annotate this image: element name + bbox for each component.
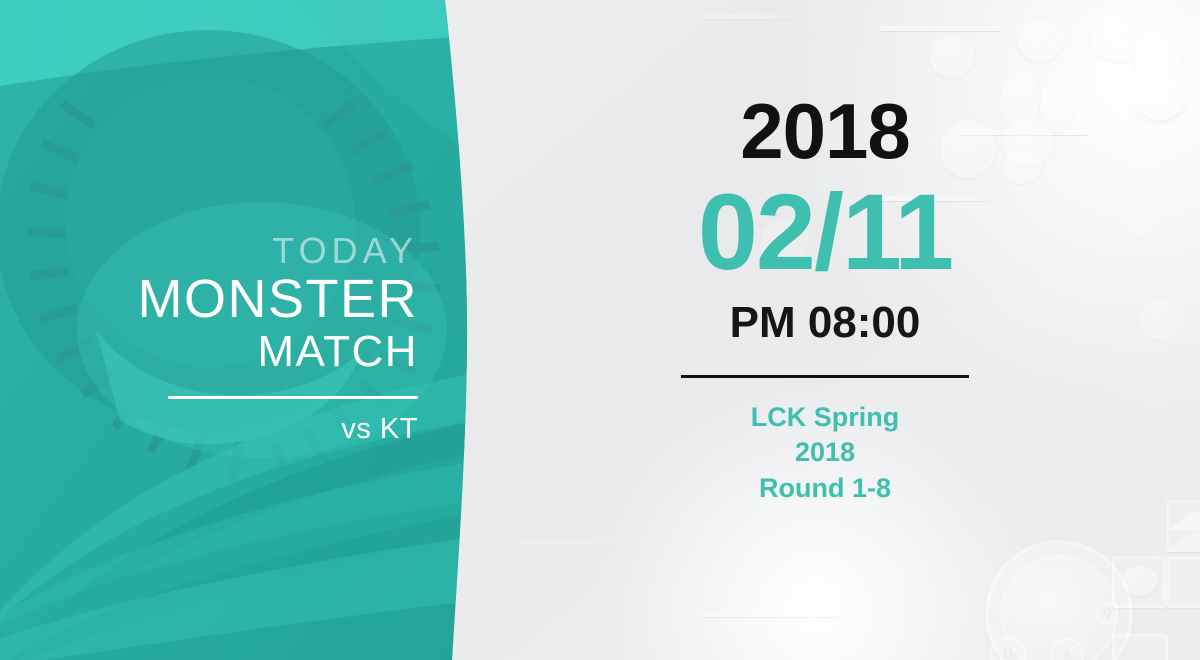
match-time: PM 08:00 [645,301,1005,345]
match-branding-panel: TODAY MONSTER MATCH vs KT [0,0,480,660]
opponent-label: vs KT [138,413,419,446]
watermark-item-slot-icon [1112,634,1168,660]
watermark-ability-icon [1122,566,1158,596]
watermark-bar-icon [700,612,840,617]
watermark-bar-icon [700,14,796,19]
branding-text-block: TODAY MONSTER MATCH vs KT [138,232,419,446]
watermark-champion-portrait-icon [985,540,1133,660]
match-year: 2018 [645,92,1005,170]
watermark-blob-icon [1132,32,1184,78]
schedule-divider [681,375,969,378]
watermark-blob-icon [1120,200,1162,236]
watermark-blob-icon [1126,62,1190,122]
branding-divider [168,396,418,399]
league-round: Round 1-8 [645,471,1005,507]
watermark-item-slot-icon [1166,500,1200,552]
match-date: 02/11 [645,174,1005,291]
watermark-blob-icon [1090,10,1150,62]
watermark-blob-icon [1134,70,1186,120]
watermark-level-badge-icon: 11 [990,636,1026,660]
watermark-blob-icon [930,36,974,78]
watermark-blob-icon [1040,78,1074,132]
match-title: MATCH [138,327,419,378]
league-name: LCK Spring [645,400,1005,436]
league-year: 2018 [645,435,1005,471]
watermark-chevron-up-icon [1168,530,1200,550]
watermark-bar-icon [880,26,1002,31]
today-label: TODAY [138,232,419,270]
league-info-block: LCK Spring 2018 Round 1-8 [645,400,1005,507]
watermark-blob-icon [1140,300,1184,340]
match-schedule-block: 2018 02/11 PM 08:00 LCK Spring 2018 Roun… [645,92,1005,507]
watermark-score-badge-icon: S [1050,638,1084,660]
match-announcement-card: 11 S Q [0,0,1200,660]
watermark-champion-portrait-inner-icon [1000,555,1118,660]
monster-title: MONSTER [138,268,419,331]
watermark-search-icon: Q [1096,602,1118,624]
watermark-bar-icon [520,540,610,545]
watermark-blob-icon [1002,118,1054,166]
watermark-blob-icon [1000,70,1040,130]
watermark-blob-icon [1002,150,1042,184]
watermark-chevron-up-icon [1168,510,1200,530]
watermark-item-slot-icon [1112,556,1166,608]
watermark-blob-icon [1018,18,1064,62]
watermark-item-slot-icon [1166,556,1200,608]
